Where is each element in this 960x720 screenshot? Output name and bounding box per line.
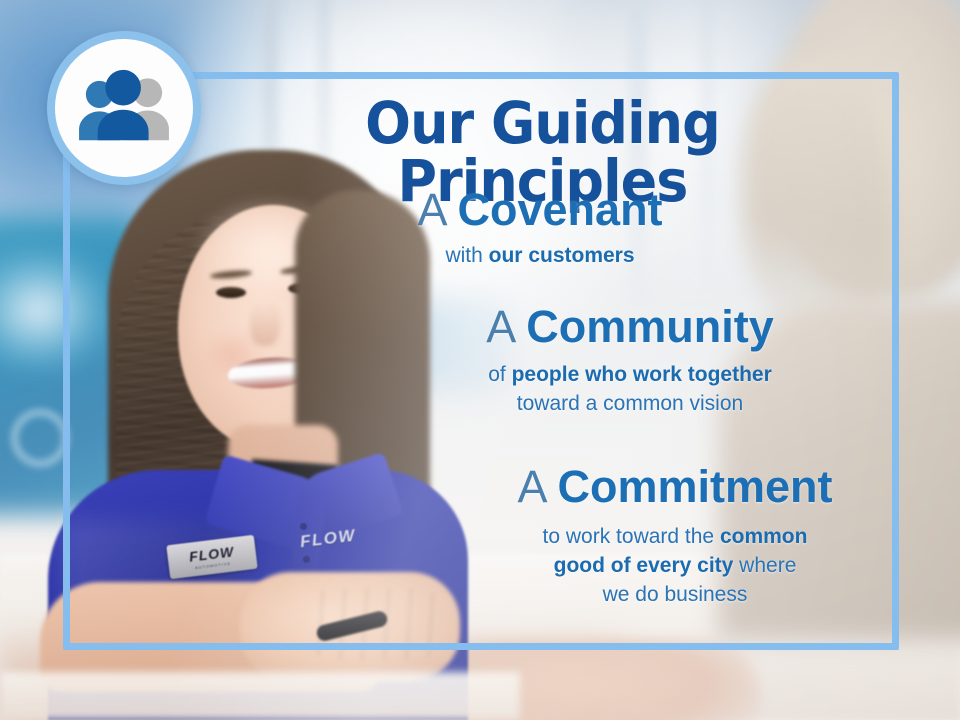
background-car xyxy=(0,250,110,370)
window-mullion xyxy=(628,0,648,310)
desk-foreground xyxy=(0,672,520,720)
woman-shirt-button xyxy=(300,523,307,530)
guiding-principles-banner: FLOW AUTOMOTIVE FLOW Our Guiding Princip… xyxy=(0,0,960,720)
people-group-icon xyxy=(73,69,175,147)
window-mullion xyxy=(700,0,714,290)
woman-shirt-button xyxy=(303,556,310,563)
background-person-hair-strands xyxy=(742,60,892,340)
badge-circle xyxy=(47,31,201,185)
background-logo-mark xyxy=(12,410,68,466)
woman-eye-left xyxy=(216,287,246,298)
background-person-shoulder xyxy=(718,300,960,640)
